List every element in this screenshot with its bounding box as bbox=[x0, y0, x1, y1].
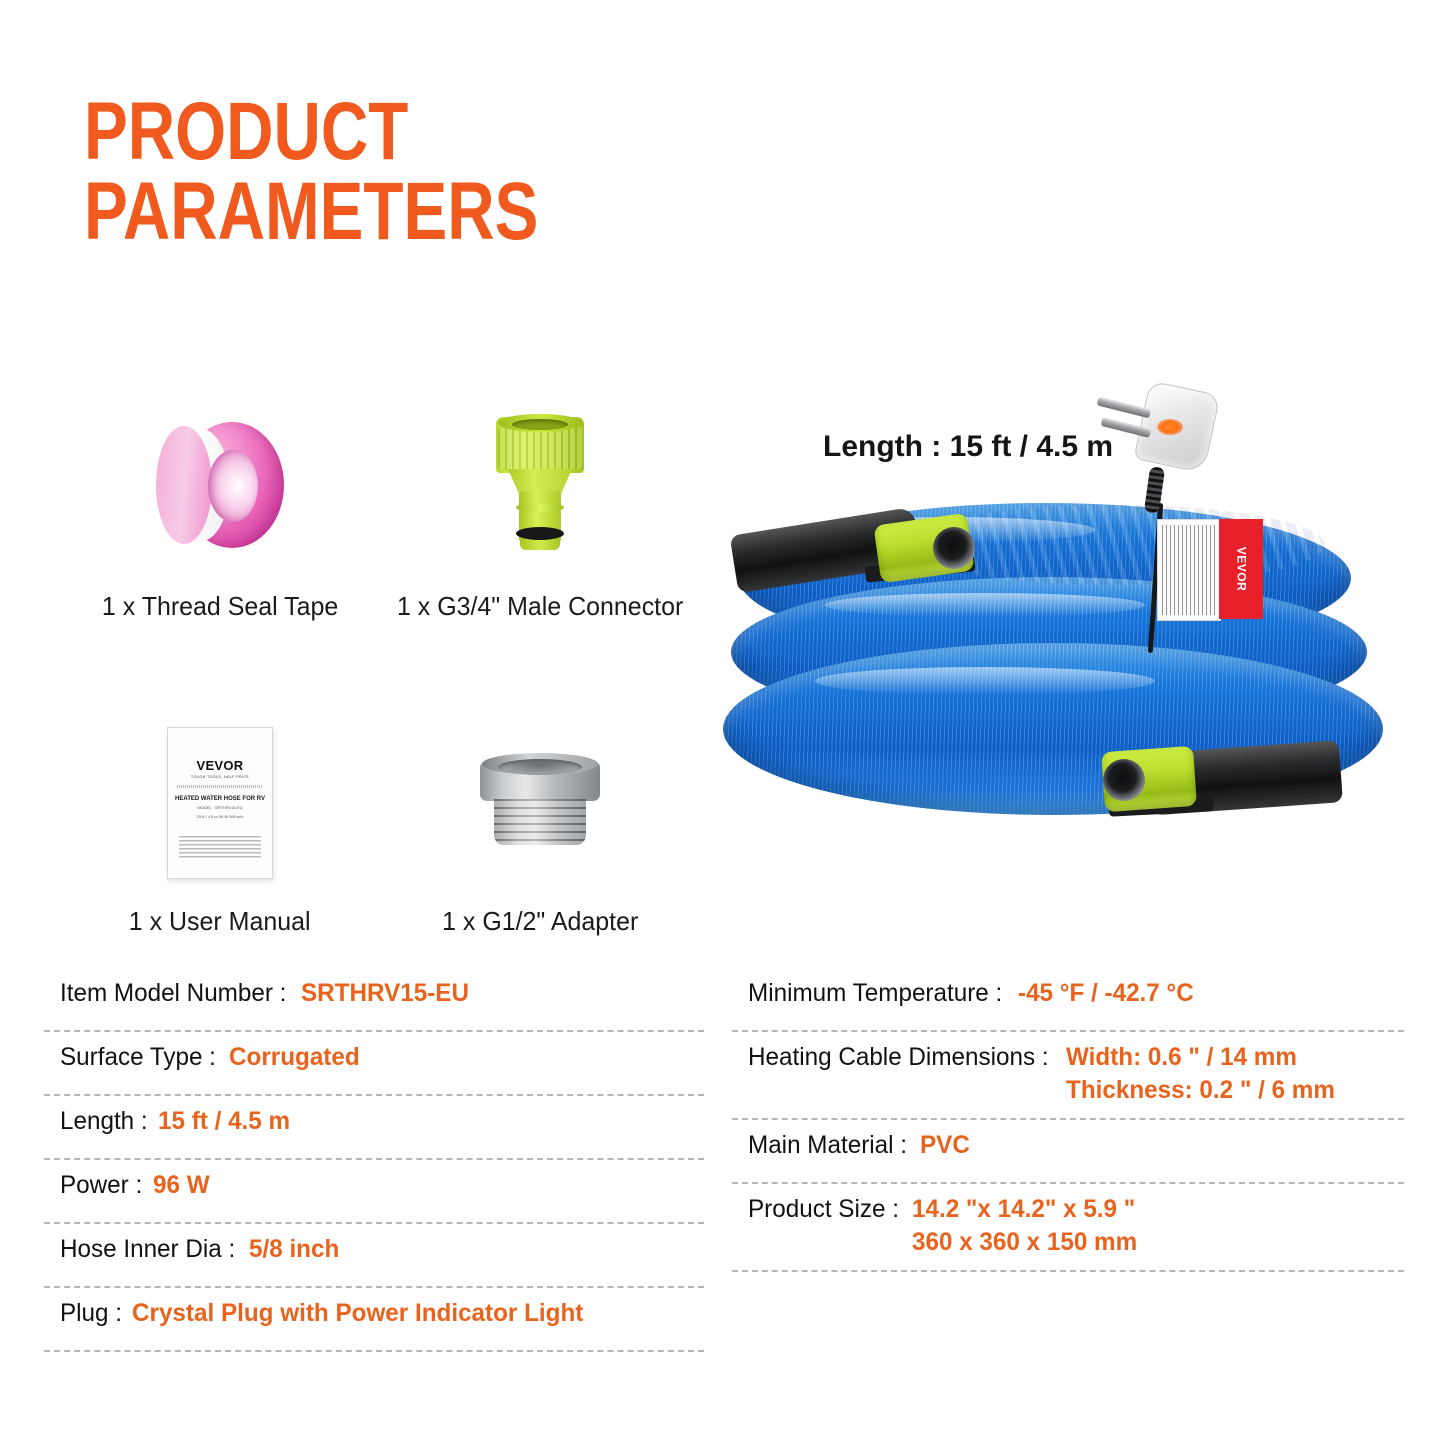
spec-label: Length : bbox=[60, 1105, 148, 1138]
male-connector-art bbox=[380, 405, 700, 565]
spec-label: Surface Type : bbox=[60, 1041, 216, 1074]
manual-model-line: MODEL : SRTHRV15-EU bbox=[168, 805, 272, 811]
spec-label: Item Model Number : bbox=[60, 977, 286, 1010]
spec-value: 96 W bbox=[153, 1169, 210, 1202]
spec-row-power: Power : 96 W bbox=[44, 1160, 704, 1224]
thread-seal-tape-art bbox=[60, 405, 380, 565]
manual-divider bbox=[177, 785, 263, 788]
g34-male-connector-icon bbox=[488, 417, 592, 553]
specifications-column-left: Item Model Number : SRTHRV15-EU Surface … bbox=[44, 968, 704, 1352]
manual-doc-title: HEATED WATER HOSE FOR RV bbox=[168, 796, 272, 802]
accessories-section: 1 x Thread Seal Tape 1 x G3/4" Male Conn… bbox=[60, 405, 700, 937]
g12-adapter-icon bbox=[480, 755, 600, 851]
user-manual-art: VEVOR TOUGH TOOLS, HALF PRICE HEATED WAT… bbox=[60, 718, 380, 888]
hang-tag-brand-panel: VEVOR bbox=[1219, 519, 1263, 619]
connector-bore-bottom bbox=[1103, 759, 1145, 801]
connector-bore-top bbox=[933, 527, 975, 569]
manual-tagline: TOUGH TOOLS, HALF PRICE bbox=[168, 775, 272, 779]
plug-pin bbox=[1097, 397, 1152, 419]
spec-value-line-1: 14.2 "x 14.2" x 5.9 " bbox=[912, 1193, 1137, 1226]
page-title: PRODUCT PARAMETERS bbox=[84, 92, 704, 251]
accessory-label: 1 x G1/2" Adapter bbox=[442, 906, 638, 937]
manual-spec-line: 15 ft / 4.5 m 96 W 5/8 inch bbox=[168, 814, 272, 820]
spec-value: Corrugated bbox=[229, 1041, 360, 1074]
power-indicator-light-icon bbox=[1157, 419, 1183, 435]
thread-seal-tape-icon bbox=[156, 422, 284, 548]
spec-row-surface-type: Surface Type : Corrugated bbox=[44, 1032, 704, 1096]
spec-label: Plug : bbox=[60, 1297, 122, 1330]
spec-row-heating-cable-dimensions: Heating Cable Dimensions : Width: 0.6 " … bbox=[732, 1032, 1404, 1120]
spec-value-line-1: Width: 0.6 " / 14 mm bbox=[1066, 1041, 1335, 1074]
manual-body-text bbox=[179, 836, 261, 858]
spec-value: PVC bbox=[920, 1129, 970, 1162]
spec-row-hose-inner-dia: Hose Inner Dia : 5/8 inch bbox=[44, 1224, 704, 1288]
accessory-item-male-connector: 1 x G3/4" Male Connector bbox=[380, 405, 700, 622]
hang-tag-spec-panel bbox=[1157, 519, 1221, 621]
accessory-item-thread-seal-tape: 1 x Thread Seal Tape bbox=[60, 405, 380, 622]
length-callout: Length : 15 ft / 4.5 m bbox=[823, 430, 1113, 464]
spec-row-product-size: Product Size : 14.2 "x 14.2" x 5.9 " 360… bbox=[732, 1184, 1404, 1272]
spec-value-multiline: Width: 0.6 " / 14 mm Thickness: 0.2 " / … bbox=[1066, 1041, 1335, 1107]
spec-value: -45 °F / -42.7 °C bbox=[1018, 977, 1194, 1010]
spec-value-multiline: 14.2 "x 14.2" x 5.9 " 360 x 360 x 150 mm bbox=[912, 1193, 1137, 1259]
user-manual-icon: VEVOR TOUGH TOOLS, HALF PRICE HEATED WAT… bbox=[167, 727, 273, 879]
accessories-row-2: VEVOR TOUGH TOOLS, HALF PRICE HEATED WAT… bbox=[60, 718, 700, 937]
spec-value-line-2: Thickness: 0.2 " / 6 mm bbox=[1066, 1074, 1335, 1107]
manual-brand: VEVOR bbox=[168, 758, 272, 773]
spec-label: Hose Inner Dia : bbox=[60, 1233, 235, 1266]
accessories-row-1: 1 x Thread Seal Tape 1 x G3/4" Male Conn… bbox=[60, 405, 700, 622]
accessory-label: 1 x Thread Seal Tape bbox=[102, 591, 338, 622]
spec-row-plug: Plug : Crystal Plug with Power Indicator… bbox=[44, 1288, 704, 1352]
hang-tag-brand-text: VEVOR bbox=[1234, 547, 1248, 592]
specifications-column-right: Minimum Temperature : -45 °F / -42.7 °C … bbox=[732, 968, 1404, 1352]
page-title-line-2: PARAMETERS bbox=[84, 172, 580, 252]
spec-value: 15 ft / 4.5 m bbox=[158, 1105, 290, 1138]
accessory-label: 1 x G3/4" Male Connector bbox=[397, 591, 683, 622]
accessory-item-user-manual: VEVOR TOUGH TOOLS, HALF PRICE HEATED WAT… bbox=[60, 718, 380, 937]
spec-value-line-2: 360 x 360 x 150 mm bbox=[912, 1226, 1137, 1259]
spec-row-length: Length : 15 ft / 4.5 m bbox=[44, 1096, 704, 1160]
specifications-table: Item Model Number : SRTHRV15-EU Surface … bbox=[44, 968, 1404, 1352]
product-photo-heated-hose: Length : 15 ft / 4.5 m VEVOR bbox=[705, 375, 1420, 875]
spec-label: Heating Cable Dimensions : bbox=[748, 1041, 1049, 1074]
accessory-item-adapter: 1 x G1/2" Adapter bbox=[380, 718, 700, 937]
spec-row-minimum-temperature: Minimum Temperature : -45 °F / -42.7 °C bbox=[732, 968, 1404, 1032]
spec-label: Main Material : bbox=[748, 1129, 907, 1162]
spec-value: Crystal Plug with Power Indicator Light bbox=[132, 1297, 583, 1330]
accessory-label: 1 x User Manual bbox=[129, 906, 311, 937]
adapter-art bbox=[380, 718, 700, 888]
spec-label: Minimum Temperature : bbox=[748, 977, 1002, 1010]
spec-value: SRTHRV15-EU bbox=[301, 977, 469, 1010]
spec-label: Product Size : bbox=[748, 1193, 899, 1226]
page-title-line-1: PRODUCT bbox=[84, 92, 580, 172]
spec-label: Power : bbox=[60, 1169, 142, 1202]
spec-value: 5/8 inch bbox=[249, 1233, 339, 1266]
spec-row-main-material: Main Material : PVC bbox=[732, 1120, 1404, 1184]
spec-row-item-model-number: Item Model Number : SRTHRV15-EU bbox=[44, 968, 704, 1032]
